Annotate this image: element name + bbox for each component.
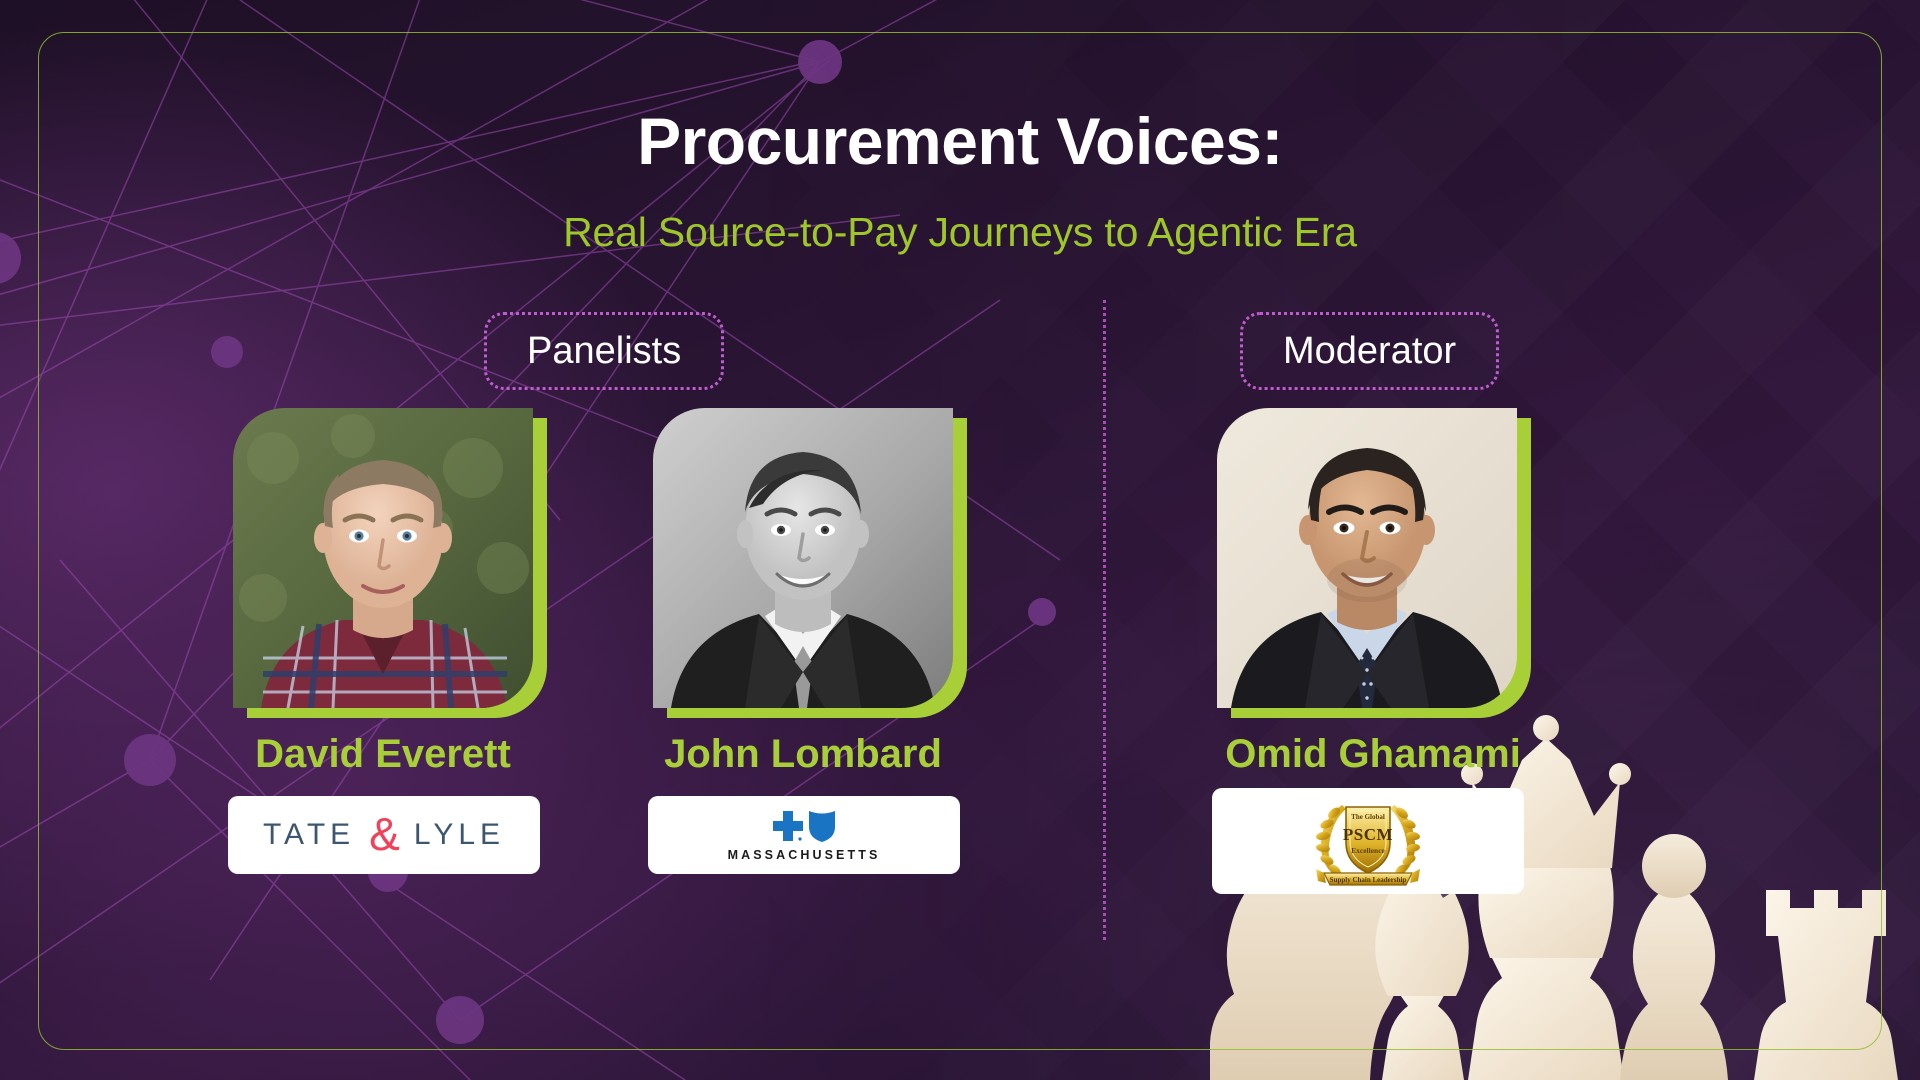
photo-frame [233,408,533,708]
panelist-card-david-everett: David Everett TATE & LYLE [228,408,538,874]
blue-shield-icon [807,809,837,843]
portrait-omid-ghamami-image [1217,408,1517,708]
pscm-top-text: The Global [1351,813,1385,821]
panelist-name: John Lombard [648,734,958,774]
company-logo-bcbs-massachusetts: MASSACHUSETTS [648,796,960,874]
moderator-section-badge: Moderator [1240,312,1499,390]
company-logo-pscm: The Global PSCM Excellence Supply Chain … [1212,788,1524,894]
panelist-name: David Everett [228,734,538,774]
panelist-card-john-lombard: John Lombard MASSACHUSETTS [648,408,958,874]
blue-cross-icon [771,809,805,843]
company-logo-tate-lyle: TATE & LYLE [228,796,540,874]
photo-frame [653,408,953,708]
pscm-banner-text: Supply Chain Leadership [1330,876,1407,884]
tate-lyle-word-right: LYLE [414,818,505,852]
moderator-name: Omid Ghamami [1218,734,1528,774]
photo-frame [1217,408,1517,708]
page-title: Procurement Voices: [0,108,1920,174]
moderator-card-omid-ghamami: Omid Ghamami [1212,408,1522,894]
pscm-crest-icon: The Global PSCM Excellence Supply Chain … [1308,793,1428,889]
avatar [653,408,953,708]
avatar [1217,408,1517,708]
slide-content: Procurement Voices: Real Source-to-Pay J… [0,0,1920,1080]
tate-lyle-word-left: TATE [263,818,355,852]
pscm-acronym: PSCM [1343,825,1393,844]
section-divider [1103,300,1106,940]
page-subtitle: Real Source-to-Pay Journeys to Agentic E… [0,212,1920,253]
avatar [233,408,533,708]
bcbs-massachusetts-label: MASSACHUSETTS [728,848,881,862]
portrait-david-everett-image [233,408,533,708]
panelists-section-badge: Panelists [484,312,724,390]
portrait-john-lombard-image [653,408,953,708]
tate-lyle-ampersand-icon: & [369,814,400,855]
pscm-bottom-text: Excellence [1351,846,1385,855]
